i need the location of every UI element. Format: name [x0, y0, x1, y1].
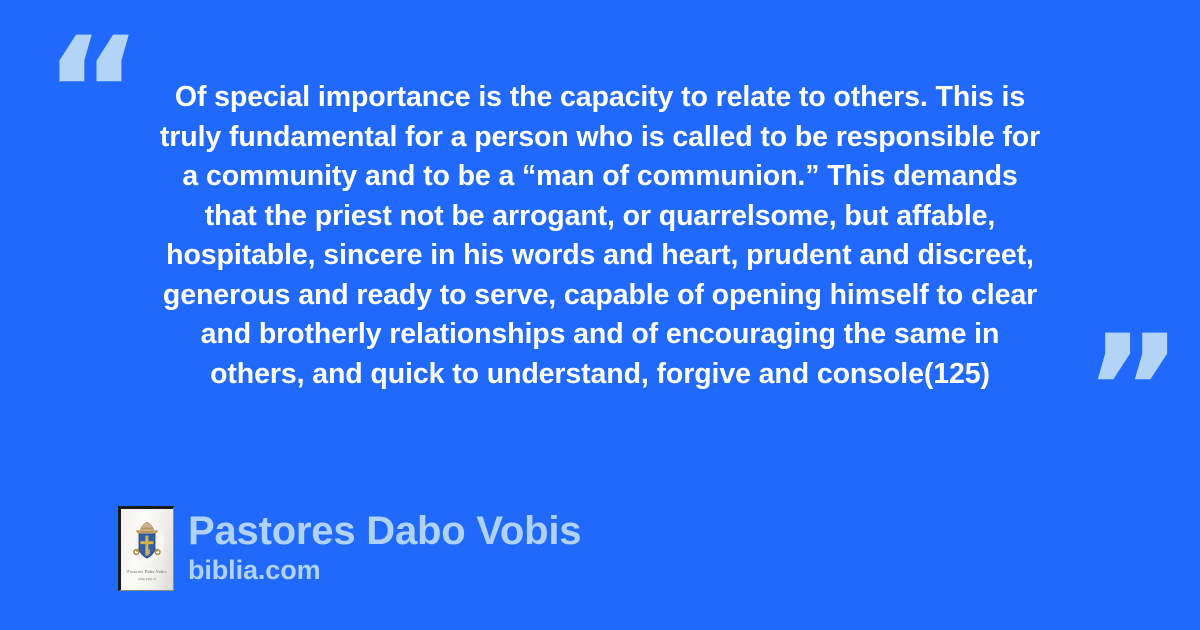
attribution-block: Pastores Dabo Vobis John Paul II Pastore…: [118, 506, 581, 591]
book-cover-title: Pastores Dabo Vobis: [121, 570, 173, 574]
book-cover-author: John Paul II: [121, 578, 173, 581]
papal-coat-of-arms-icon: [128, 519, 166, 563]
attribution-text-group: Pastores Dabo Vobis biblia.com: [188, 506, 581, 586]
book-cover-thumbnail: Pastores Dabo Vobis John Paul II: [118, 506, 174, 591]
quote-line: and brotherly relationships and of encou…: [110, 315, 1090, 355]
quote-line: generous and ready to serve, capable of …: [110, 276, 1090, 316]
quote-line: a community and to be a “man of communio…: [110, 157, 1090, 197]
quote-line: others, and quick to understand, forgive…: [110, 355, 1090, 395]
quote-line: hospitable, sincere in his words and hea…: [110, 236, 1090, 276]
quote-card: “ Of special importance is the capacity …: [0, 0, 1200, 630]
quote-line: truly fundamental for a person who is ca…: [110, 118, 1090, 158]
quote-body: Of special importance is the capacity to…: [110, 78, 1090, 394]
quote-line: that the priest not be arrogant, or quar…: [110, 197, 1090, 237]
quote-line: Of special importance is the capacity to…: [110, 78, 1090, 118]
work-title: Pastores Dabo Vobis: [188, 508, 581, 554]
site-name: biblia.com: [188, 554, 581, 586]
closing-quote-icon: ”: [1084, 316, 1183, 466]
